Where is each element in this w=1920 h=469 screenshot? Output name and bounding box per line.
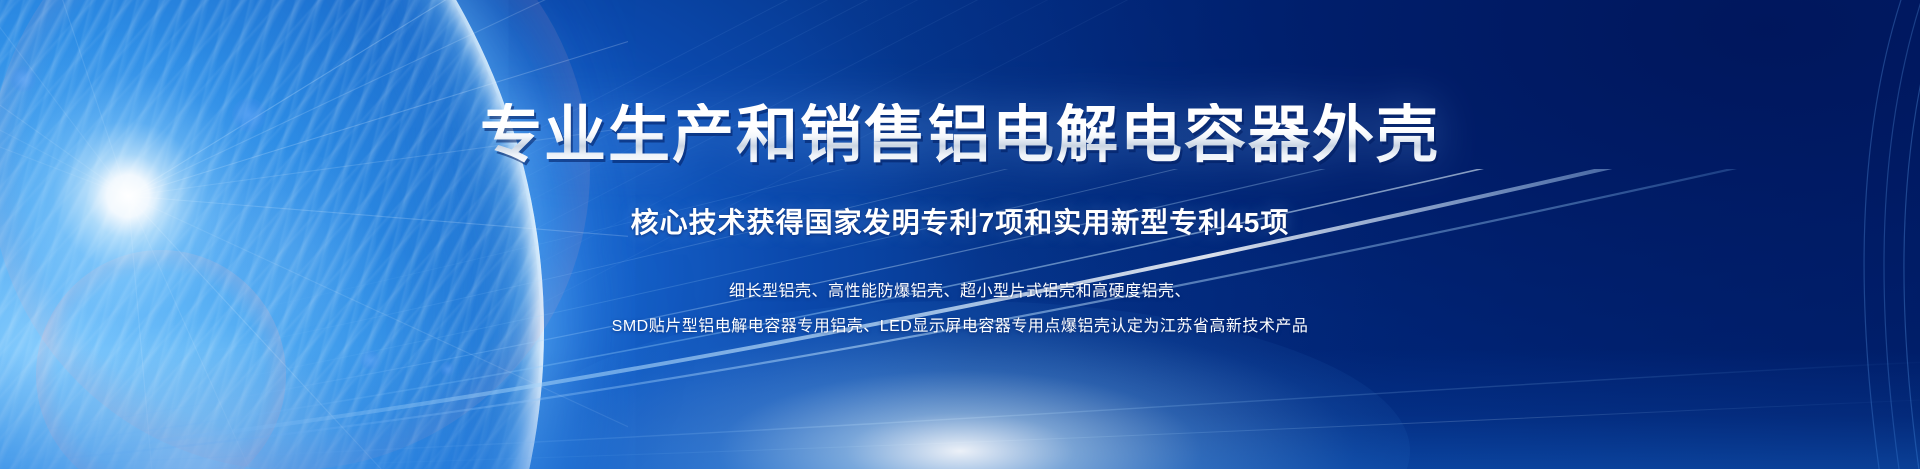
banner-detail-line-1: 细长型铝壳、高性能防爆铝壳、超小型片式铝壳和高硬度铝壳、	[612, 277, 1309, 301]
banner-subheadline: 核心技术获得国家发明专利7项和实用新型专利45项	[631, 201, 1290, 241]
banner-headline: 专业生产和销售铝电解电容器外壳	[480, 103, 1440, 168]
hero-banner: 专业生产和销售铝电解电容器外壳 核心技术获得国家发明专利7项和实用新型专利45项…	[0, 0, 1920, 469]
banner-content: 专业生产和销售铝电解电容器外壳 核心技术获得国家发明专利7项和实用新型专利45项…	[0, 0, 1920, 469]
banner-detail-line-2: SMD贴片型铝电解电容器专用铝壳、LED显示屏电容器专用点爆铝壳认定为江苏省高新…	[612, 312, 1309, 336]
banner-detail-list: 细长型铝壳、高性能防爆铝壳、超小型片式铝壳和高硬度铝壳、 SMD贴片型铝电解电容…	[612, 277, 1309, 336]
